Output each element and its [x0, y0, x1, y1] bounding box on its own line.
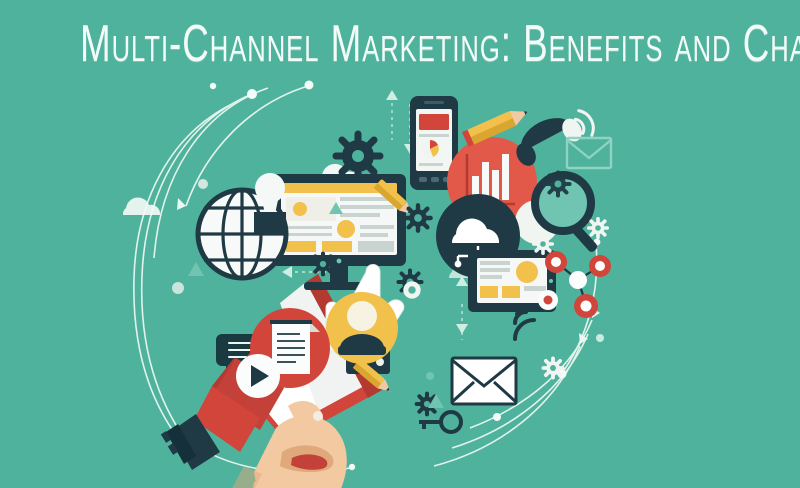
envelope-icon	[452, 358, 516, 404]
page-title: Multi-Channel Marketing: Benefits and Ch…	[80, 11, 720, 76]
wifi-icon	[515, 311, 534, 339]
marketing-illustration	[0, 76, 800, 488]
play-button-icon	[236, 354, 280, 398]
user-avatar-icon	[326, 292, 398, 364]
headset-icon	[508, 100, 598, 171]
poster-canvas: Multi-Channel Marketing: Benefits and Ch…	[0, 0, 800, 488]
envelope-outline-icon	[567, 138, 611, 168]
